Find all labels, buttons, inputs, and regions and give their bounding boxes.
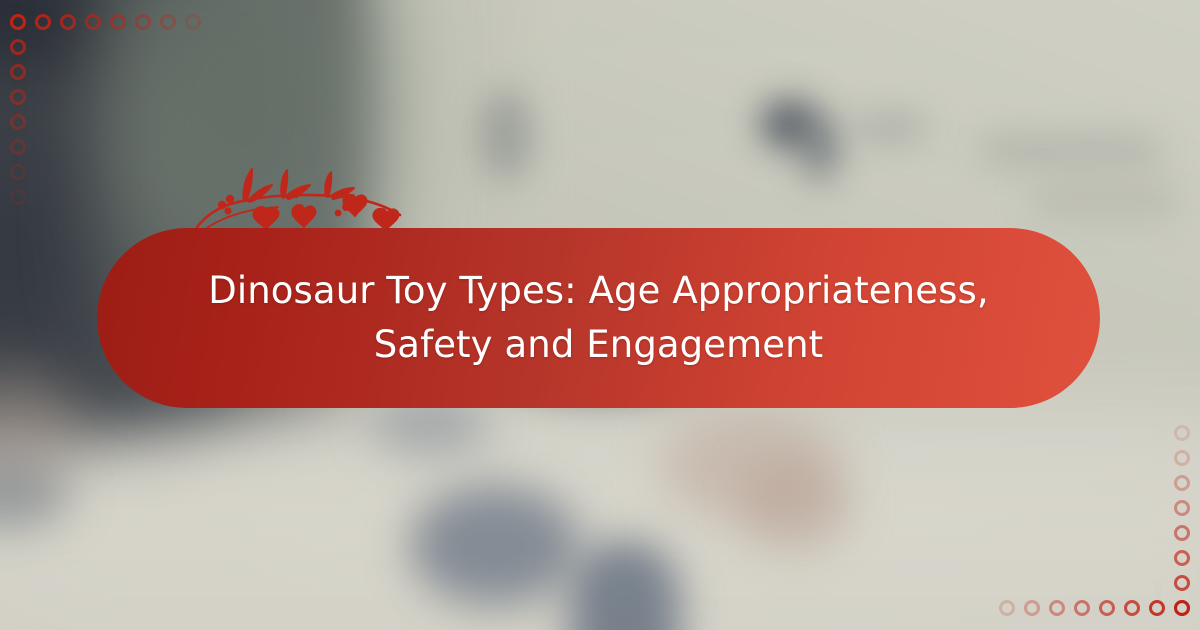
decorative-dots-right: [1174, 416, 1190, 616]
decorative-dots-left: [10, 14, 26, 214]
decorative-dot-bottom: [1099, 600, 1115, 616]
decorative-dot-right: [1174, 550, 1190, 566]
decorative-dot-right: [1174, 600, 1190, 616]
decorative-dot-top: [110, 14, 126, 30]
decorative-dot-bottom: [1074, 600, 1090, 616]
title-pill-banner: Dinosaur Toy Types: Age Appropriateness,…: [97, 228, 1100, 408]
cover-canvas: Dinosaur Toy Types: Age Appropriateness,…: [0, 0, 1200, 630]
decorative-dot-right: [1174, 475, 1190, 491]
decorative-dot-bottom: [999, 600, 1015, 616]
decorative-dot-left: [10, 39, 26, 55]
decorative-dot-top: [35, 14, 51, 30]
decorative-dot-right: [1174, 500, 1190, 516]
decorative-dot-left: [10, 164, 26, 180]
decorative-dot-left: [10, 139, 26, 155]
decorative-dot-bottom: [1049, 600, 1065, 616]
decorative-dot-left: [10, 189, 26, 205]
decorative-dots-bottom-right: [990, 600, 1190, 616]
decorative-dot-right: [1174, 575, 1190, 591]
decorative-dots-top-left: [10, 14, 210, 30]
decorative-dot-right: [1174, 525, 1190, 541]
page-title: Dinosaur Toy Types: Age Appropriateness,…: [204, 264, 994, 371]
decorative-dot-top: [160, 14, 176, 30]
decorative-dot-top: [60, 14, 76, 30]
decorative-dot-left: [10, 89, 26, 105]
decorative-dot-top: [85, 14, 101, 30]
decorative-dot-top: [185, 14, 201, 30]
decorative-dot-left: [10, 114, 26, 130]
decorative-dot-right: [1174, 425, 1190, 441]
decorative-dot-top: [135, 14, 151, 30]
decorative-dot-bottom: [1024, 600, 1040, 616]
decorative-dot-bottom: [1124, 600, 1140, 616]
decorative-dot-bottom: [1149, 600, 1165, 616]
decorative-dot-left: [10, 64, 26, 80]
decorative-dot-left: [10, 14, 26, 30]
decorative-dot-right: [1174, 450, 1190, 466]
